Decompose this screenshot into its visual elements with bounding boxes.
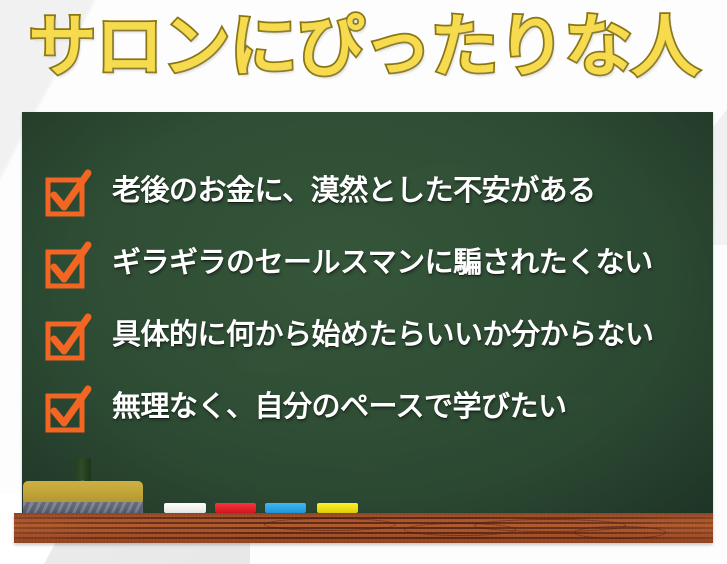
wood-knot [264,518,396,531]
chalk-red [215,503,256,513]
list-item-label: ギラギラのセールスマンに騙されたくない [112,248,653,277]
list-item: 具体的に何から始めたらいいか分からない [45,306,703,378]
chalk-yellow [317,503,358,513]
checkbox-checked-icon [45,171,91,217]
list-item: ギラギラのセールスマンに騙されたくない [45,234,703,306]
checkbox-checked-icon [45,315,91,361]
list-item-label: 具体的に何から始めたらいいか分からない [112,320,654,349]
checkbox-checked-icon [45,243,91,289]
list-item: 無理なく、自分のペースで学びたい [45,378,703,450]
chalk-white [164,503,206,513]
chalk-ledge [14,513,713,543]
wood-knot [574,526,666,539]
checkbox-checked-icon [45,387,91,433]
page-title: サロンにぴったりな人 [0,2,727,94]
slide-canvas: サロンにぴったりな人 老後のお金に、漠然とした不安がある [0,0,727,564]
eraser-body [23,481,143,502]
chalkboard: 老後のお金に、漠然とした不安がある ギラギラのセールスマンに騙されたくない [22,112,713,516]
checklist: 老後のお金に、漠然とした不安がある ギラギラのセールスマンに騙されたくない [45,162,703,450]
page-title-text: サロンにぴったりな人 [28,14,698,82]
chalkboard-eraser [23,458,143,516]
list-item: 老後のお金に、漠然とした不安がある [45,162,703,234]
list-item-label: 無理なく、自分のペースで学びたい [112,392,567,421]
chalk-blue [265,503,306,513]
list-item-label: 老後のお金に、漠然とした不安がある [112,176,596,205]
